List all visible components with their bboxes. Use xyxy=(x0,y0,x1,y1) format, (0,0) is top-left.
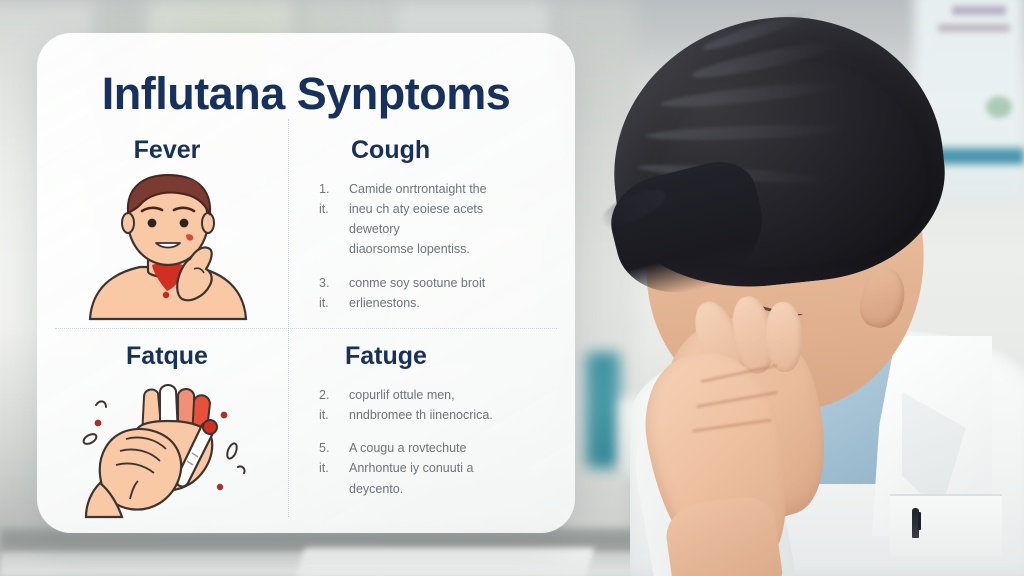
text-line: deycento. xyxy=(349,479,547,499)
text-line: conme soy sootune broit xyxy=(349,273,547,293)
list-text: copurlif ottule men, nndbromee th iineno… xyxy=(349,385,547,426)
section-fatuge: Fatuge 2. it. copurlif ottule men, nndbr… xyxy=(299,343,561,527)
text-line: erlienestons. xyxy=(349,293,547,313)
list-marker: 2. it. xyxy=(319,385,337,426)
section-heading-fever: Fever xyxy=(51,137,283,165)
text-line: nndbromee th iinenocrica. xyxy=(349,405,547,425)
fatigue-illustration xyxy=(51,379,283,529)
text-line: ineu ch aty eoiese acets xyxy=(349,199,547,219)
section-heading-fatuge: Fatuge xyxy=(299,343,561,371)
marker-secondary: it. xyxy=(319,296,329,310)
text-line: copurlif ottule men, xyxy=(349,385,547,405)
list-item: 1. it. Camide onrtrontaight the ineu ch … xyxy=(319,179,547,260)
section-heading-fatque: Fatque xyxy=(51,343,283,371)
list-marker: 1. it. xyxy=(319,179,337,260)
text-line: diaorsomse lopentiss. xyxy=(349,239,547,259)
section-cough: Cough 1. it. Camide onrtrontaight the in… xyxy=(299,137,561,327)
pen-clip xyxy=(918,512,921,530)
text-line: dewetory xyxy=(349,219,547,239)
page-title: Influtana Synptoms xyxy=(37,71,575,116)
list-item: 5. it. A cougu a rovtechute Anrhontue iy… xyxy=(319,438,547,499)
infographic-image: Influtana Synptoms Fever xyxy=(0,0,1024,576)
text-line: Camide onrtrontaight the xyxy=(349,179,547,199)
cough-text-list: 1. it. Camide onrtrontaight the ineu ch … xyxy=(299,173,561,314)
marker-primary: 5. xyxy=(319,441,329,455)
symptoms-card: Influtana Synptoms Fever xyxy=(37,33,575,533)
marker-secondary: it. xyxy=(319,408,329,422)
fatuge-text-list: 2. it. copurlif ottule men, nndbromee th… xyxy=(299,379,561,499)
marker-primary: 1. xyxy=(319,182,329,196)
list-marker: 5. it. xyxy=(319,438,337,499)
list-text: conme soy sootune broit erlienestons. xyxy=(349,273,547,314)
coat-pocket xyxy=(890,494,1002,556)
person-touching-throat-icon xyxy=(78,173,256,321)
marker-secondary: it. xyxy=(319,202,329,216)
list-item: 3. it. conme soy sootune broit erlienest… xyxy=(319,273,547,314)
horizontal-divider xyxy=(55,328,557,329)
marker-primary: 3. xyxy=(319,276,329,290)
section-fever: Fever xyxy=(51,137,283,327)
list-text: Camide onrtrontaight the ineu ch aty eoi… xyxy=(349,179,547,260)
vertical-divider xyxy=(288,119,289,517)
marker-secondary: it. xyxy=(319,461,329,475)
list-item: 2. it. copurlif ottule men, nndbromee th… xyxy=(319,385,547,426)
fever-illustration xyxy=(51,173,283,323)
section-heading-cough: Cough xyxy=(299,137,561,165)
hands-with-thermometer-icon xyxy=(74,379,260,519)
marker-primary: 2. xyxy=(319,388,329,402)
list-text: A cougu a rovtechute Anrhontue iy conuut… xyxy=(349,438,547,499)
list-marker: 3. it. xyxy=(319,273,337,314)
section-fatque: Fatque xyxy=(51,343,283,527)
text-line: A cougu a rovtechute xyxy=(349,438,547,458)
text-line: Anrhontue iy conuuti a xyxy=(349,458,547,478)
